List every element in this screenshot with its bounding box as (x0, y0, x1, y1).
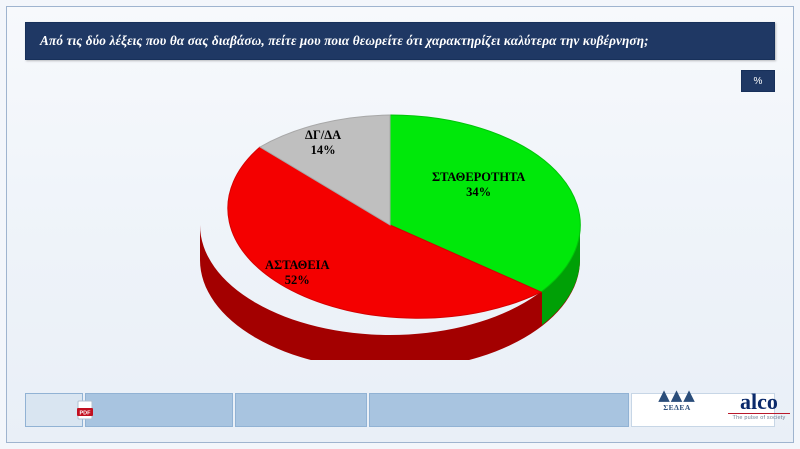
slice-label-astatheia-value: 52% (265, 273, 330, 288)
slide-canvas: Από τις δύο λέξεις που θα σας διαβάσω, π… (0, 0, 800, 449)
slide-title-bar: Από τις δύο λέξεις που θα σας διαβάσω, π… (25, 22, 775, 60)
alco-logo: alco The pulse of society (719, 391, 799, 421)
unit-badge: % (741, 70, 775, 92)
pdf-icon: PDF (75, 399, 97, 421)
footer-segment-3 (235, 393, 367, 427)
page-title: Από τις δύο λέξεις που θα σας διαβάσω, π… (26, 33, 649, 49)
slice-label-astatheia: ΑΣΤΑΘΕΙΑ 52% (265, 258, 330, 288)
pie-graphic: ΣΤΑΘΕΡΟΤΗΤΑ 34% ΑΣΤΑΘΕΙΑ 52% ΔΓ/ΔΑ 14% (170, 100, 610, 360)
footer-segment-4 (369, 393, 629, 427)
slice-label-astatheia-name: ΑΣΤΑΘΕΙΑ (265, 258, 330, 273)
unit-badge-label: % (754, 76, 763, 87)
pie-chart: ΣΤΑΘΕΡΟΤΗΤΑ 34% ΑΣΤΑΘΕΙΑ 52% ΔΓ/ΔΑ 14% (150, 90, 650, 380)
slice-label-dgda-value: 14% (305, 143, 341, 158)
slice-label-stathirotita-name: ΣΤΑΘΕΡΟΤΗΤΑ (432, 170, 525, 185)
footer-segment-2 (85, 393, 233, 427)
sedea-logo-label: ΣΕΔΕΑ (645, 403, 709, 412)
alco-logo-name: alco (719, 391, 799, 413)
alco-logo-tagline: The pulse of society (719, 415, 799, 421)
slice-label-stathirotita-value: 34% (432, 185, 525, 200)
slice-label-stathirotita: ΣΤΑΘΕΡΟΤΗΤΑ 34% (432, 170, 525, 200)
pie-svg (170, 100, 610, 360)
sedea-logo: ▲▲▲ ΣΕΔΕΑ (645, 387, 709, 412)
sedea-mark-icon: ▲▲▲ (645, 387, 709, 403)
slice-label-dgda: ΔΓ/ΔΑ 14% (305, 128, 341, 158)
footer-bar: PDF ▲▲▲ ΣΕΔΕΑ alco The pulse of society (25, 393, 775, 427)
svg-text:PDF: PDF (80, 411, 92, 417)
slice-label-dgda-name: ΔΓ/ΔΑ (305, 128, 341, 143)
